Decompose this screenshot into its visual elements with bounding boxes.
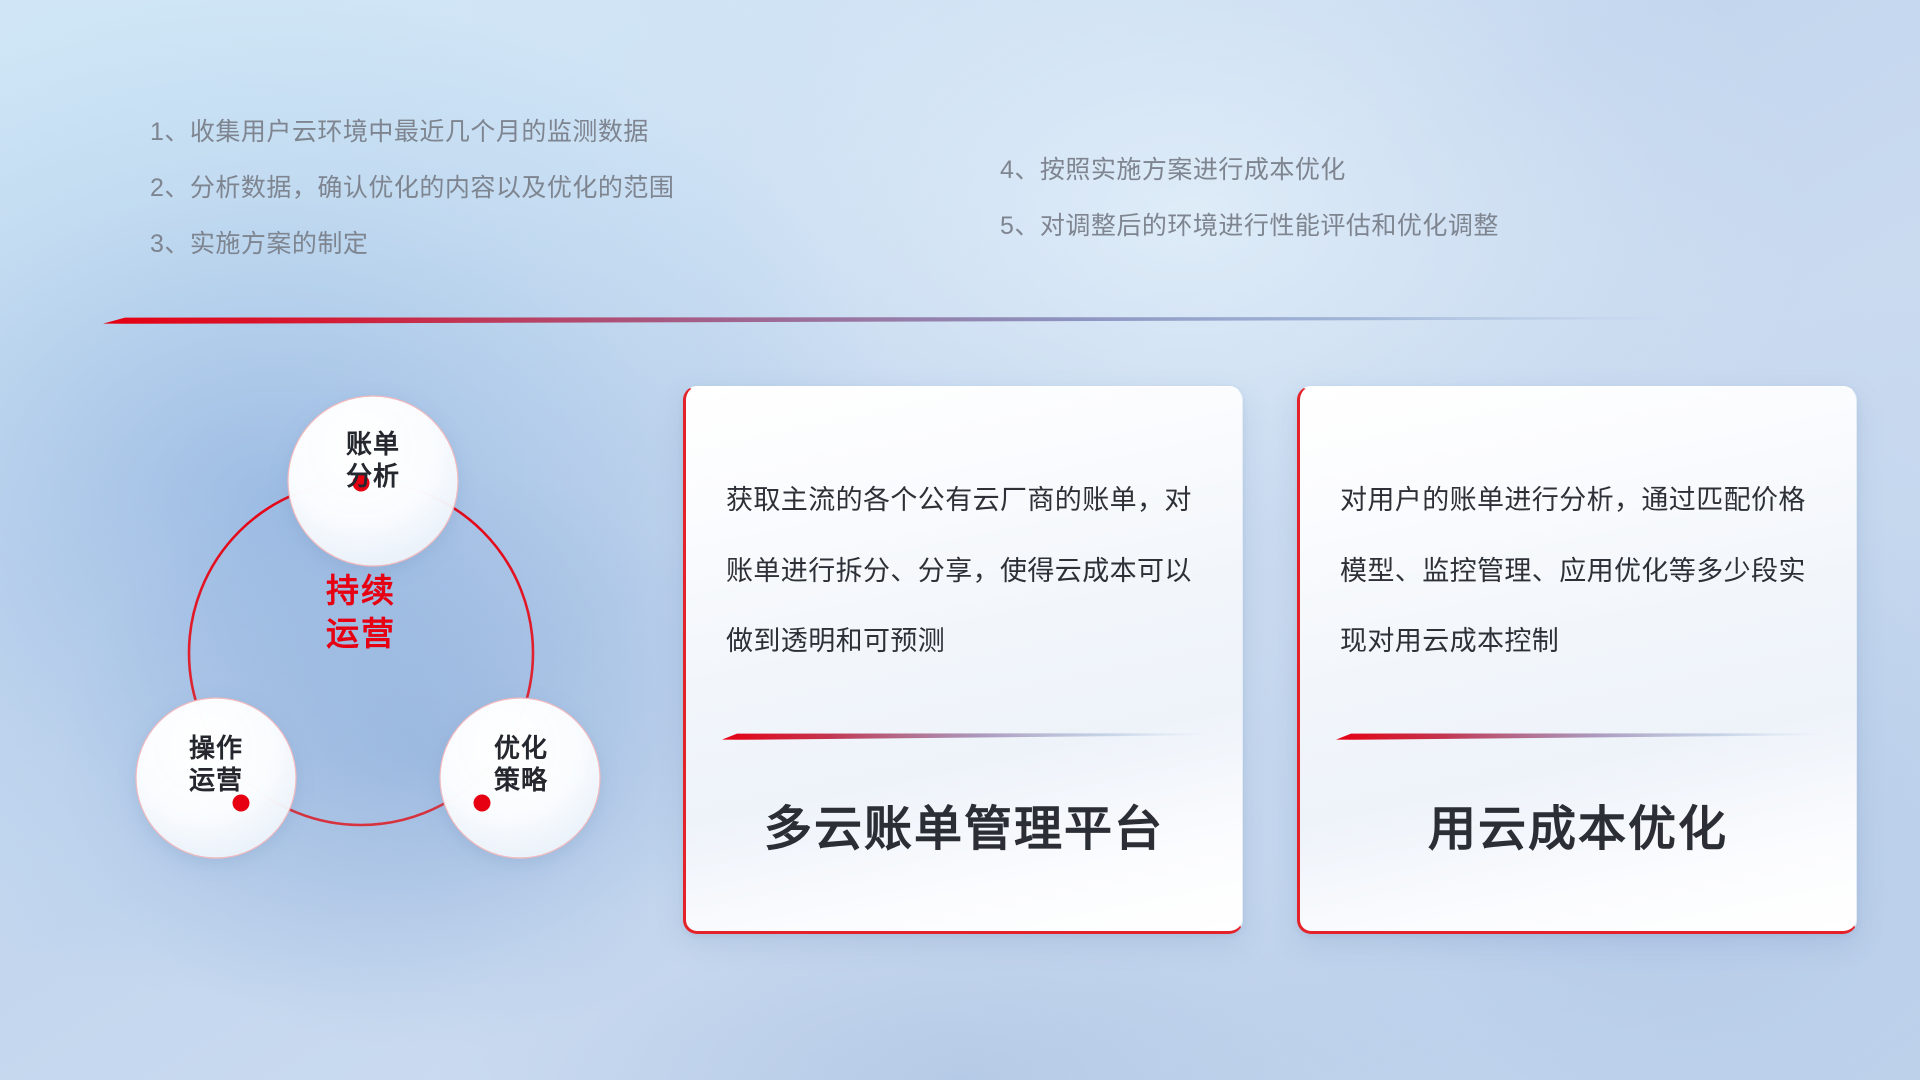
slide-canvas: 1、收集用户云环境中最近几个月的监测数据 2、分析数据，确认优化的内容以及优化的…	[0, 0, 1920, 1080]
list-item: 2、分析数据，确认优化的内容以及优化的范围	[150, 176, 674, 201]
card-cloud-cost-optimization[interactable]: 对用户的账单进行分析，通过匹配价格模型、监控管理、应用优化等多少段实现对用云成本…	[1297, 386, 1857, 934]
list-item: 5、对调整后的环境进行性能评估和优化调整	[1000, 214, 1499, 239]
connector-dot	[474, 795, 491, 812]
card-title: 用云成本优化	[1300, 789, 1856, 859]
section-divider	[103, 311, 1668, 320]
steps-list-left: 1、收集用户云环境中最近几个月的监测数据 2、分析数据，确认优化的内容以及优化的…	[150, 120, 674, 257]
card-body-text: 对用户的账单进行分析，通过匹配价格模型、监控管理、应用优化等多少段实现对用云成本…	[1340, 465, 1826, 677]
bubble-operations	[136, 698, 296, 858]
card-body-text: 获取主流的各个公有云厂商的账单，对账单进行拆分、分享，使得云成本可以做到透明和可…	[726, 465, 1212, 677]
connector-dot	[353, 475, 370, 492]
connector-dot	[233, 795, 250, 812]
bubble-optimization	[440, 698, 600, 858]
card-title: 多云账单管理平台	[686, 789, 1242, 859]
list-item: 4、按照实施方案进行成本优化	[1000, 158, 1499, 183]
list-item: 1、收集用户云环境中最近几个月的监测数据	[150, 120, 674, 145]
card-multi-cloud-billing-platform[interactable]: 获取主流的各个公有云厂商的账单，对账单进行拆分、分享，使得云成本可以做到透明和可…	[683, 386, 1243, 934]
steps-list-right: 4、按照实施方案进行成本优化 5、对调整后的环境进行性能评估和优化调整	[1000, 158, 1499, 239]
card-divider	[1336, 727, 1826, 735]
card-divider	[722, 727, 1212, 735]
continuous-operations-diagram: 账单 分析 操作 运营 优化 策略 持续 运营	[96, 348, 626, 958]
list-item: 3、实施方案的制定	[150, 232, 674, 257]
